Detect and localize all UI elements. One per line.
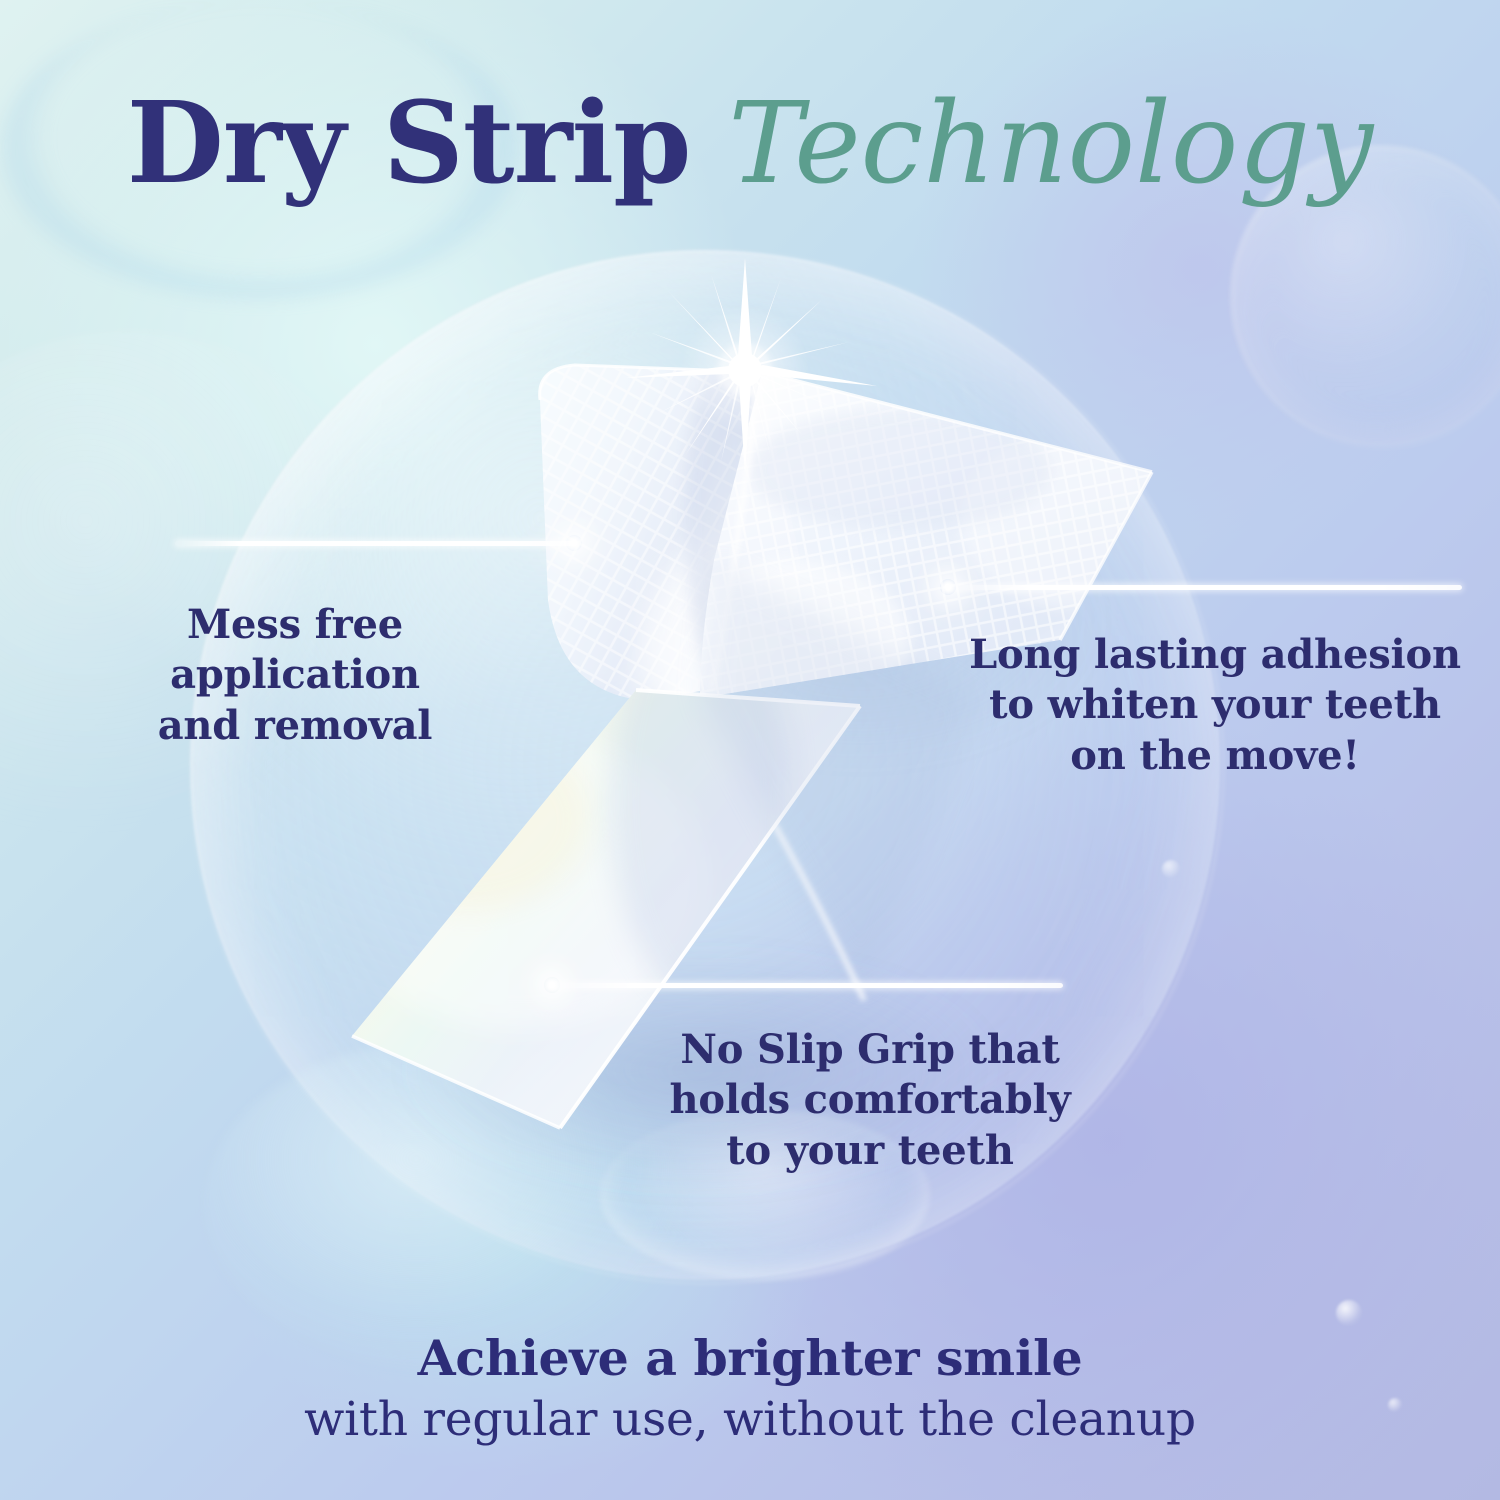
callout-mess-free-line-3: and removal <box>95 701 495 751</box>
callout-adhesion-line-1: Long lasting adhesion <box>955 630 1475 680</box>
callout-mess-free: Mess free application and removal <box>95 600 495 751</box>
tagline-line-2: with regular use, without the cleanup <box>0 1391 1500 1448</box>
title-bold-part: Dry Strip <box>127 78 729 209</box>
title-italic-part: Technology <box>728 79 1373 209</box>
callout-grip-line-1: No Slip Grip that <box>645 1025 1095 1075</box>
tagline: Achieve a brighter smile with regular us… <box>0 1330 1500 1448</box>
page-title: Dry Strip Technology <box>0 88 1500 200</box>
callout-long-lasting-adhesion: Long lasting adhesion to whiten your tee… <box>955 630 1475 781</box>
leader-line-no-slip-grip <box>551 983 1063 988</box>
infographic-canvas: Dry Strip Technology Mess free applicati… <box>0 0 1500 1500</box>
callout-grip-line-3: to your teeth <box>645 1126 1095 1176</box>
leader-dot-adhesion-icon <box>940 579 956 595</box>
leader-dot-no-slip-grip-icon <box>544 977 560 993</box>
leader-dot-mess-free-icon <box>566 535 582 551</box>
callout-mess-free-line-2: application <box>95 650 495 700</box>
callout-no-slip-grip: No Slip Grip that holds comfortably to y… <box>645 1025 1095 1176</box>
callout-adhesion-line-3: on the move! <box>955 731 1475 781</box>
leader-line-adhesion <box>946 585 1462 590</box>
callout-adhesion-line-2: to whiten your teeth <box>955 680 1475 730</box>
tagline-line-1: Achieve a brighter smile <box>0 1330 1500 1387</box>
callout-mess-free-line-1: Mess free <box>95 600 495 650</box>
leader-line-mess-free <box>175 541 573 546</box>
callout-grip-line-2: holds comfortably <box>645 1075 1095 1125</box>
